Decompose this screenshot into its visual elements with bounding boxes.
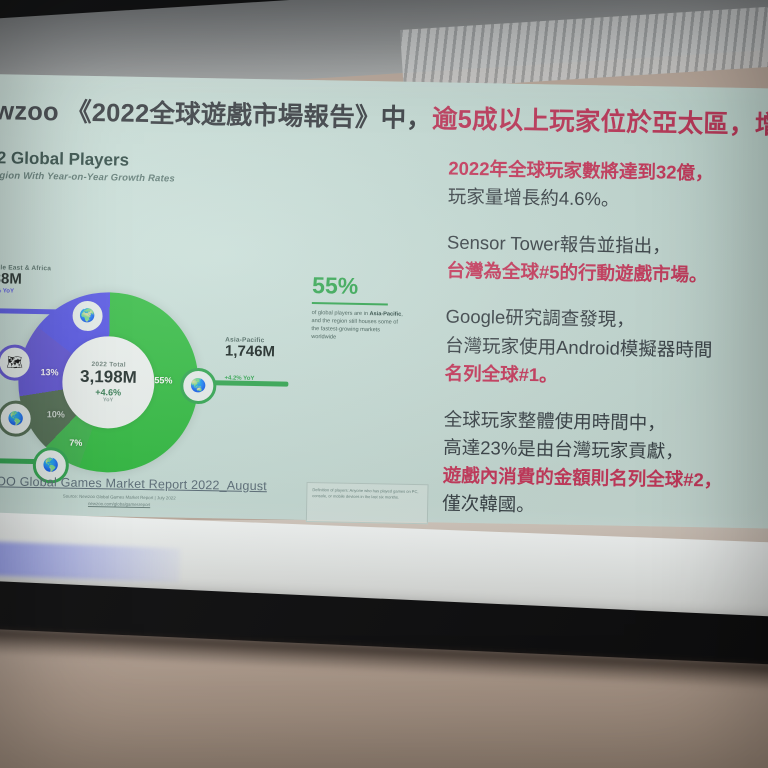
asia-pacific-callout: 55% of global players are in Asia-Pacifi… bbox=[311, 274, 404, 343]
asia-map-icon: 🌏 bbox=[180, 368, 217, 405]
p3-line3: 名列全球#1。 bbox=[444, 359, 768, 393]
chart-source: Source: Newzoo Global Games Market Repor… bbox=[4, 492, 234, 509]
region-players-middle-east-africa: 488M bbox=[0, 271, 51, 288]
p1-line2: 玩家量增長約4.6%。 bbox=[448, 183, 768, 217]
donut-center-yoy-unit: YoY bbox=[103, 397, 113, 403]
region-yoy-middle-east-africa: +8.2% YoY bbox=[0, 288, 51, 295]
callout-description: of global players are in Asia-Pacific, a… bbox=[311, 309, 404, 343]
donut-center-yoy: +4.6% bbox=[95, 387, 121, 397]
slide-title-plain: Newzoo 《2022全球遊戲市場報告》中， bbox=[0, 97, 432, 134]
callout-percentage: 55% bbox=[312, 274, 404, 299]
callout-divider bbox=[312, 302, 388, 305]
slice-pct-europe: 13% bbox=[40, 367, 58, 377]
leader-line-middle-east-africa bbox=[0, 308, 80, 315]
callout-text-part1: of global players are in bbox=[312, 310, 370, 317]
photograph-of-presentation-screen: Newzoo 《2022全球遊戲市場報告》中，逾5成以上玩家位於亞太區，增長快速… bbox=[0, 0, 768, 768]
definition-footnote: Definition of players: Anyone who has pl… bbox=[306, 482, 429, 524]
players-donut-chart: 2022 Total 3,198M +4.6% YoY bbox=[17, 291, 200, 474]
slice-pct-asia-pacific: 55% bbox=[154, 375, 172, 385]
region-label-middle-east-africa: Middle East & Africa 488M +8.2% YoY bbox=[0, 264, 51, 295]
paragraph-1: 2022年全球玩家數將達到32億， 玩家量增長約4.6%。 bbox=[448, 155, 768, 217]
slide-title-highlight: 逾5成以上玩家位於亞太區，增長快速 bbox=[432, 105, 768, 141]
projected-slide: Newzoo 《2022全球遊戲市場報告》中，逾5成以上玩家位於亞太區，增長快速… bbox=[0, 74, 768, 529]
slide-bullet-text: 2022年全球玩家數將達到32億， 玩家量增長約4.6%。 Sensor Tow… bbox=[442, 155, 768, 542]
chart-subtitle: Per Region With Year-on-Year Growth Rate… bbox=[0, 170, 175, 185]
region-yoy-asia-pacific: +4.2% YoY bbox=[224, 375, 274, 382]
paragraph-2: Sensor Tower報告並指出， 台灣為全球#5的行動遊戲市場。 bbox=[446, 229, 768, 291]
latin-america-map-icon: 🌎 bbox=[0, 400, 34, 437]
donut-center-total: 2022 Total 3,198M +4.6% YoY bbox=[62, 335, 156, 429]
p2-line2: 台灣為全球#5的行動遊戲市場。 bbox=[446, 257, 768, 291]
region-label-asia-pacific: Asia-Pacific 1,746M +4.2% YoY bbox=[224, 336, 275, 382]
region-players-asia-pacific: 1,746M bbox=[225, 343, 275, 360]
paragraph-4: 全球玩家整體使用時間中， 高達23%是由台灣玩家貢獻， 遊戲內消費的金額則名列全… bbox=[442, 405, 768, 524]
slice-pct-latin-america: 10% bbox=[47, 409, 65, 419]
chart-title: 2022 Global Players bbox=[0, 148, 129, 171]
paragraph-3: Google研究調查發現， 台灣玩家使用Android模擬器時間 名列全球#1。 bbox=[444, 303, 768, 394]
screen-glare bbox=[0, 541, 181, 582]
p4-line4: 僅次韓國。 bbox=[442, 490, 768, 524]
chart-panel: 2022 Global Players Per Region With Year… bbox=[0, 140, 423, 528]
callout-text-bold: Asia-Pacific bbox=[369, 311, 401, 318]
slide-title: Newzoo 《2022全球遊戲市場報告》中，逾5成以上玩家位於亞太區，增長快速 bbox=[0, 90, 768, 142]
donut-center-value: 3,198M bbox=[80, 368, 137, 387]
slice-pct-north-america: 7% bbox=[69, 438, 82, 448]
